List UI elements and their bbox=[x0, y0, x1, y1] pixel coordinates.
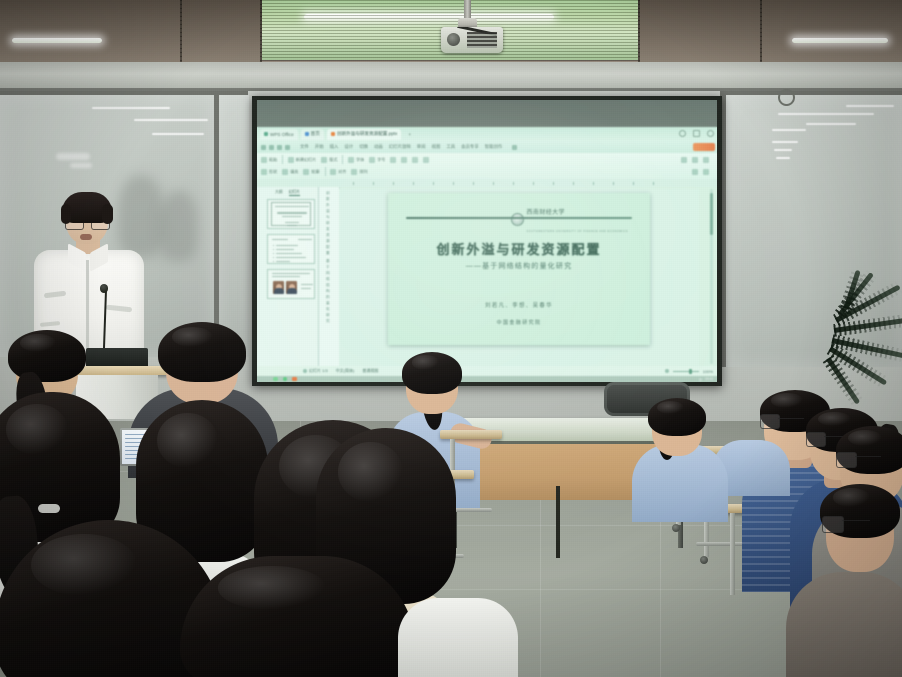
audience-hair bbox=[648, 398, 706, 436]
print-icon[interactable] bbox=[285, 145, 290, 150]
ribbon-align[interactable]: 对齐 bbox=[330, 169, 346, 175]
ribbon-font-size[interactable]: 字号 bbox=[369, 157, 385, 163]
thumbnail-line bbox=[282, 216, 302, 217]
slide-authors: 刘若凡、李想、吴春华 bbox=[388, 301, 650, 309]
font-color-icon bbox=[423, 157, 429, 163]
glare-streak bbox=[92, 107, 170, 109]
hair-tie bbox=[38, 504, 60, 513]
tab-label: WPS Office bbox=[270, 132, 294, 137]
wps-ribbon[interactable]: 粘贴 新建幻灯片 版式 字体 字号 bbox=[257, 153, 717, 180]
audience-member bbox=[800, 472, 902, 677]
audience-torso bbox=[398, 598, 518, 677]
shapes-icon bbox=[261, 169, 267, 175]
lecture-room-photo: WPS Office 首页 创新外溢与研发资源配置.pptx + bbox=[0, 0, 902, 677]
audience-member bbox=[632, 402, 728, 522]
search-icon[interactable] bbox=[512, 145, 517, 150]
thumbnail-line bbox=[287, 225, 297, 226]
align-icon bbox=[330, 169, 336, 175]
menu-item-insert[interactable]: 插入 bbox=[330, 144, 339, 150]
thumbnail-line bbox=[285, 222, 299, 223]
thumbnail-portrait bbox=[273, 281, 284, 294]
tab-wps-office[interactable]: WPS Office bbox=[260, 129, 298, 140]
menu-item-transition[interactable]: 切换 bbox=[359, 144, 368, 150]
outline-icon bbox=[303, 169, 309, 175]
menu-item-design[interactable]: 设计 bbox=[344, 144, 353, 150]
underline-icon bbox=[412, 157, 418, 163]
menu-item-slideshow[interactable]: 幻灯片放映 bbox=[389, 144, 411, 150]
ribbon-layout[interactable]: 版式 bbox=[321, 157, 337, 163]
presenter-mouth bbox=[80, 234, 92, 240]
more-icon[interactable] bbox=[692, 169, 698, 175]
find-icon[interactable] bbox=[681, 157, 687, 163]
vertical-outline-strip[interactable]: 创新 外溢 与研 发资 源配 置基 于网 络结 构的 量化 研究 bbox=[319, 187, 340, 366]
thumbnail-pane-tabs[interactable]: 大纲 幻灯片 bbox=[259, 190, 316, 196]
ribbon-arrange[interactable]: 排列 bbox=[351, 169, 367, 175]
ribbon-label: 填充 bbox=[290, 169, 298, 175]
vertical-scrollbar[interactable] bbox=[710, 189, 713, 364]
university-name-english: SOUTHWESTERN UNIVERSITY OF FINANCE AND E… bbox=[527, 230, 628, 233]
audience-torso bbox=[786, 572, 902, 677]
ribbon-label: 字体 bbox=[356, 157, 364, 163]
status-view-mode[interactable]: 普通视图 bbox=[362, 368, 378, 374]
scrollbar-thumb[interactable] bbox=[710, 193, 713, 235]
ribbon-label: 形状 bbox=[269, 169, 277, 175]
ribbon-right-group-2[interactable] bbox=[692, 169, 709, 175]
ceiling-seam bbox=[760, 0, 762, 62]
ceiling-seam bbox=[180, 0, 182, 62]
ribbon-font-color[interactable] bbox=[423, 157, 429, 163]
layout-icon bbox=[321, 157, 327, 163]
current-slide[interactable]: 西南财经大学 SOUTHWESTERN UNIVERSITY OF FINANC… bbox=[388, 193, 650, 345]
font-size-icon bbox=[369, 157, 375, 163]
thumbnail-heading bbox=[298, 239, 312, 240]
ribbon-label: 版式 bbox=[329, 157, 337, 163]
tab-label: 创新外溢与研发资源配置.pptx bbox=[337, 131, 398, 137]
ribbon-label: 排列 bbox=[359, 169, 367, 175]
ribbon-right-group[interactable] bbox=[681, 157, 709, 163]
ribbon-label: 新建幻灯片 bbox=[296, 157, 316, 163]
minimize-icon[interactable] bbox=[679, 130, 686, 137]
settings-icon[interactable] bbox=[703, 169, 709, 175]
ribbon-label: 粘贴 bbox=[269, 157, 277, 163]
projection-screen: WPS Office 首页 创新外溢与研发资源配置.pptx + bbox=[257, 100, 717, 382]
audience-hair bbox=[402, 352, 462, 394]
university-name: 西南财经大学 bbox=[527, 210, 565, 216]
font-icon bbox=[348, 157, 354, 163]
glare-streak bbox=[152, 133, 204, 135]
ribbon-new-slide[interactable]: 新建幻灯片 bbox=[288, 157, 316, 163]
menu-item-view[interactable]: 视图 bbox=[432, 144, 441, 150]
maximize-icon[interactable] bbox=[693, 130, 700, 137]
fluorescent-light-strip bbox=[12, 38, 102, 43]
ribbon-font-name[interactable]: 字体 bbox=[348, 157, 364, 163]
glare-streak bbox=[846, 105, 894, 107]
projector-lens-icon bbox=[447, 33, 460, 46]
university-seal-icon bbox=[511, 213, 524, 226]
new-slide-icon bbox=[288, 157, 294, 163]
select-icon[interactable] bbox=[703, 157, 709, 163]
wps-office-window[interactable]: WPS Office 首页 创新外溢与研发资源配置.pptx + bbox=[257, 127, 717, 382]
fit-to-window-icon[interactable] bbox=[665, 369, 669, 373]
tab-label: 首页 bbox=[311, 131, 320, 137]
ribbon-label: 轮廓 bbox=[311, 169, 319, 175]
audience-hair bbox=[180, 556, 416, 677]
wps-icon[interactable] bbox=[283, 377, 288, 382]
glare-streak bbox=[776, 157, 790, 159]
thumbnail-title-line bbox=[277, 212, 307, 214]
glare-streak bbox=[772, 129, 806, 131]
slide-icon bbox=[303, 369, 307, 373]
presenter-hair-side bbox=[61, 204, 71, 224]
ribbon-row-secondary[interactable]: 形状 填充 轮廓 对齐 排列 bbox=[261, 167, 713, 176]
status-language[interactable]: 中文(简体) bbox=[336, 368, 355, 374]
save-icon[interactable] bbox=[261, 145, 266, 150]
presenter-hair-side bbox=[102, 204, 113, 224]
home-icon bbox=[305, 132, 309, 136]
ribbon-row-primary[interactable]: 粘贴 新建幻灯片 版式 字体 字号 bbox=[261, 155, 713, 164]
zoom-level-label: 100% bbox=[703, 369, 713, 374]
tab-home[interactable]: 首页 bbox=[301, 129, 324, 140]
glare-streak bbox=[806, 123, 856, 125]
ribbon-outline[interactable]: 轮廓 bbox=[303, 169, 319, 175]
whiteboard-frame bbox=[726, 91, 902, 95]
taskbar-clock: 15:42 bbox=[705, 377, 713, 381]
ribbon-separator bbox=[342, 155, 343, 164]
taskbar-tray[interactable]: 中 15:42 bbox=[699, 377, 713, 382]
status-right-group[interactable]: 100% bbox=[665, 369, 713, 374]
eyeglasses-icon bbox=[836, 452, 857, 468]
ribbon-shapes[interactable]: 形状 bbox=[261, 169, 277, 175]
fill-icon bbox=[282, 169, 288, 175]
screen-upper-band bbox=[257, 100, 717, 127]
status-slide-indicator: 幻灯片 1/3 bbox=[303, 368, 328, 374]
audience-member bbox=[180, 556, 416, 677]
ceiling-panel bbox=[182, 0, 260, 62]
glass-whiteboard-panel bbox=[219, 95, 249, 357]
wall-reflection bbox=[160, 191, 198, 261]
glare-streak bbox=[778, 113, 874, 115]
eyeglasses-arm bbox=[842, 520, 870, 521]
glare-streak bbox=[134, 119, 208, 121]
redo-icon[interactable] bbox=[277, 145, 282, 150]
table-center-leg bbox=[556, 486, 560, 558]
glare-blob bbox=[56, 153, 90, 160]
menu-item-file[interactable]: 文件 bbox=[300, 144, 309, 150]
browser-icon[interactable] bbox=[292, 377, 297, 382]
undo-icon[interactable] bbox=[269, 145, 274, 150]
bold-icon bbox=[390, 157, 396, 163]
zoom-slider[interactable] bbox=[673, 371, 699, 372]
glare-blob bbox=[70, 163, 92, 168]
thumbnail-slide-3[interactable]: 3 bbox=[267, 269, 315, 299]
menu-item-smart-create[interactable]: 智能创作 bbox=[485, 144, 503, 150]
arrange-icon bbox=[351, 169, 357, 175]
glare-streak bbox=[772, 141, 798, 143]
slide-subtitle: ——基于网络结构的量化研究 bbox=[388, 261, 650, 271]
ribbon-fill[interactable]: 填充 bbox=[282, 169, 298, 175]
ribbon-label: 字号 bbox=[377, 157, 385, 163]
pptx-icon bbox=[331, 132, 335, 136]
ceiling-panel bbox=[640, 0, 760, 62]
slide-affiliation: 中国金融研究院 bbox=[388, 319, 650, 326]
thumbnail-portrait bbox=[286, 281, 297, 294]
audience-hair bbox=[158, 322, 246, 382]
quick-access-toolbar[interactable] bbox=[261, 145, 290, 150]
ribbon-separator bbox=[325, 167, 326, 176]
upgrade-button[interactable] bbox=[693, 143, 715, 151]
glare-streak bbox=[774, 149, 792, 151]
horizontal-ruler bbox=[257, 179, 717, 187]
replace-icon[interactable] bbox=[692, 157, 698, 163]
slide-divider-rule bbox=[406, 217, 632, 219]
new-tab-button[interactable]: + bbox=[404, 129, 415, 140]
audience-hair bbox=[8, 330, 86, 382]
thumbnail-line bbox=[272, 276, 300, 277]
ribbon-underline[interactable] bbox=[412, 157, 418, 163]
menu-item-review[interactable]: 审阅 bbox=[417, 144, 426, 150]
ribbon-bold[interactable] bbox=[390, 157, 396, 163]
ribbon-paste[interactable]: 粘贴 bbox=[261, 157, 277, 163]
paste-icon bbox=[261, 157, 267, 163]
university-logo-block: 西南财经大学 SOUTHWESTERN UNIVERSITY OF FINANC… bbox=[511, 201, 628, 237]
thumbnail-line bbox=[275, 206, 309, 207]
eyeglasses-icon bbox=[822, 516, 844, 533]
wps-menu-bar[interactable]: 文件 开始 插入 设计 切换 动画 幻灯片放映 审阅 视图 工具 会员专享 智能… bbox=[257, 141, 717, 153]
thumbnail-heading bbox=[272, 239, 288, 240]
ime-indicator[interactable]: 中 bbox=[699, 377, 702, 382]
menu-item-member[interactable]: 会员专享 bbox=[461, 144, 479, 150]
ceiling-projector bbox=[441, 27, 503, 53]
ceiling-panel bbox=[762, 0, 902, 62]
slide-title: 创新外溢与研发资源配置 bbox=[388, 239, 650, 258]
ribbon-italic[interactable] bbox=[401, 157, 407, 163]
thumbnail-heading bbox=[272, 273, 310, 274]
window-controls[interactable] bbox=[679, 130, 714, 137]
tab-slides[interactable]: 幻灯片 bbox=[289, 190, 300, 196]
thumbnail-slide-2[interactable]: 2 bbox=[267, 234, 315, 264]
wps-status-bar[interactable]: 幻灯片 1/3 中文(简体) 普通视图 100% bbox=[257, 366, 717, 376]
close-icon[interactable] bbox=[707, 130, 714, 137]
wall-speaker-icon bbox=[778, 89, 795, 106]
wps-tab-bar[interactable]: WPS Office 首页 创新外溢与研发资源配置.pptx + bbox=[257, 127, 717, 141]
slide-canvas[interactable]: 西南财经大学 SOUTHWESTERN UNIVERSITY OF FINANC… bbox=[339, 189, 699, 366]
tab-outline[interactable]: 大纲 bbox=[275, 190, 283, 196]
thumbnail-slide-1[interactable]: 1 bbox=[267, 199, 315, 229]
italic-icon bbox=[401, 157, 407, 163]
menu-item-animation[interactable]: 动画 bbox=[374, 144, 383, 150]
projector-vent bbox=[467, 32, 497, 48]
ceiling-panel bbox=[0, 0, 180, 62]
fluorescent-light-strip bbox=[792, 38, 888, 43]
menu-item-tools[interactable]: 工具 bbox=[446, 144, 455, 150]
wps-logo-icon bbox=[264, 132, 268, 136]
ribbon-separator bbox=[282, 155, 283, 164]
ceiling-seam bbox=[638, 0, 640, 62]
microphone-head-icon bbox=[100, 284, 108, 293]
ribbon-label: 对齐 bbox=[338, 169, 346, 175]
menu-item-start[interactable]: 开始 bbox=[315, 144, 324, 150]
eyeglasses-arm bbox=[855, 456, 881, 457]
tab-presentation-file[interactable]: 创新外溢与研发资源配置.pptx bbox=[327, 129, 402, 140]
